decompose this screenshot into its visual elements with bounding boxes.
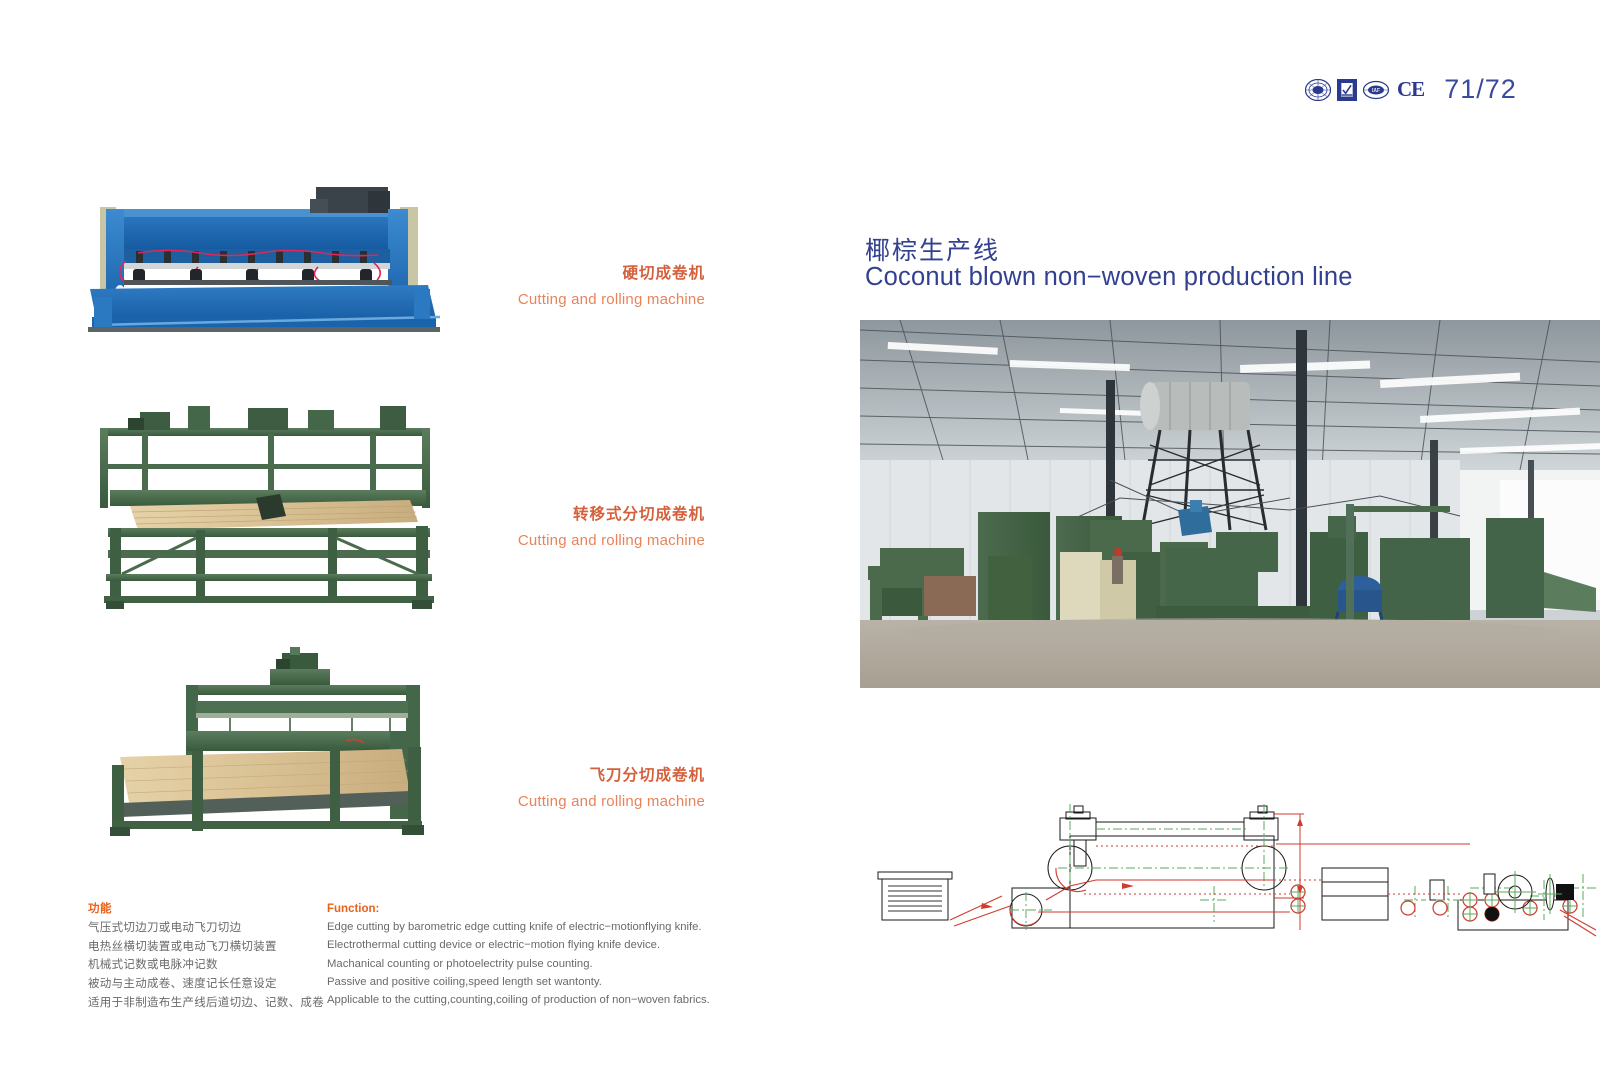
- section-title-cn: 椰棕生产线: [865, 231, 1000, 267]
- left-column: 硬切成卷机 Cutting and rolling machine: [0, 0, 760, 1092]
- function-line-cn: 适用于非制造布生产线后道切边、记数、成卷: [88, 994, 338, 1013]
- function-heading-cn: 功能: [88, 900, 338, 916]
- function-line-en: Passive and positive coiling,speed lengt…: [327, 973, 717, 991]
- flying-knife-slitting-rolling-machine-photo: [90, 645, 470, 845]
- product-title-cn-3: 飞刀分切成卷机: [275, 764, 705, 787]
- catalog-page: IAF CE 71/72: [0, 0, 1600, 1092]
- product-caption-2: 转移式分切成卷机 Cutting and rolling machine: [275, 503, 705, 553]
- product-caption-1: 硬切成卷机 Cutting and rolling machine: [275, 262, 705, 312]
- function-line-cn: 机械式记数或电脉冲记数: [88, 956, 338, 975]
- product-title-en-1: Cutting and rolling machine: [275, 288, 705, 312]
- product-title-en-3: Cutting and rolling machine: [275, 790, 705, 814]
- coconut-production-line-factory-photo: [860, 320, 1600, 688]
- function-line-cn: 被动与主动成卷、速度记长任意设定: [88, 975, 338, 994]
- function-heading-en: Function:: [327, 903, 717, 915]
- function-line-cn: 气压式切边刀或电动飞刀切边: [88, 919, 338, 938]
- function-block-en: Function: Edge cutting by barometric edg…: [327, 903, 717, 1009]
- section-title-en: Coconut blown non−woven production line: [865, 263, 1353, 292]
- product-caption-3: 飞刀分切成卷机 Cutting and rolling machine: [275, 764, 705, 814]
- product-title-cn-2: 转移式分切成卷机: [275, 503, 705, 526]
- product-title-en-2: Cutting and rolling machine: [275, 529, 705, 553]
- function-block-cn: 功能 气压式切边刀或电动飞刀切边 电热丝横切装置或电动飞刀横切装置 机械式记数或…: [88, 900, 338, 1012]
- production-line-technical-drawing: [870, 770, 1600, 940]
- function-line-en: Electrothermal cutting device or electri…: [327, 936, 717, 954]
- function-line-en: Applicable to the cutting,counting,coili…: [327, 991, 717, 1009]
- function-line-en: Edge cutting by barometric edge cutting …: [327, 918, 717, 936]
- function-line-cn: 电热丝横切装置或电动飞刀横切装置: [88, 938, 338, 957]
- product-title-cn-1: 硬切成卷机: [275, 262, 705, 285]
- function-line-en: Machanical counting or photoelectrity pu…: [327, 955, 717, 973]
- right-column: 椰棕生产线 Coconut blown non−woven production…: [860, 0, 1600, 1092]
